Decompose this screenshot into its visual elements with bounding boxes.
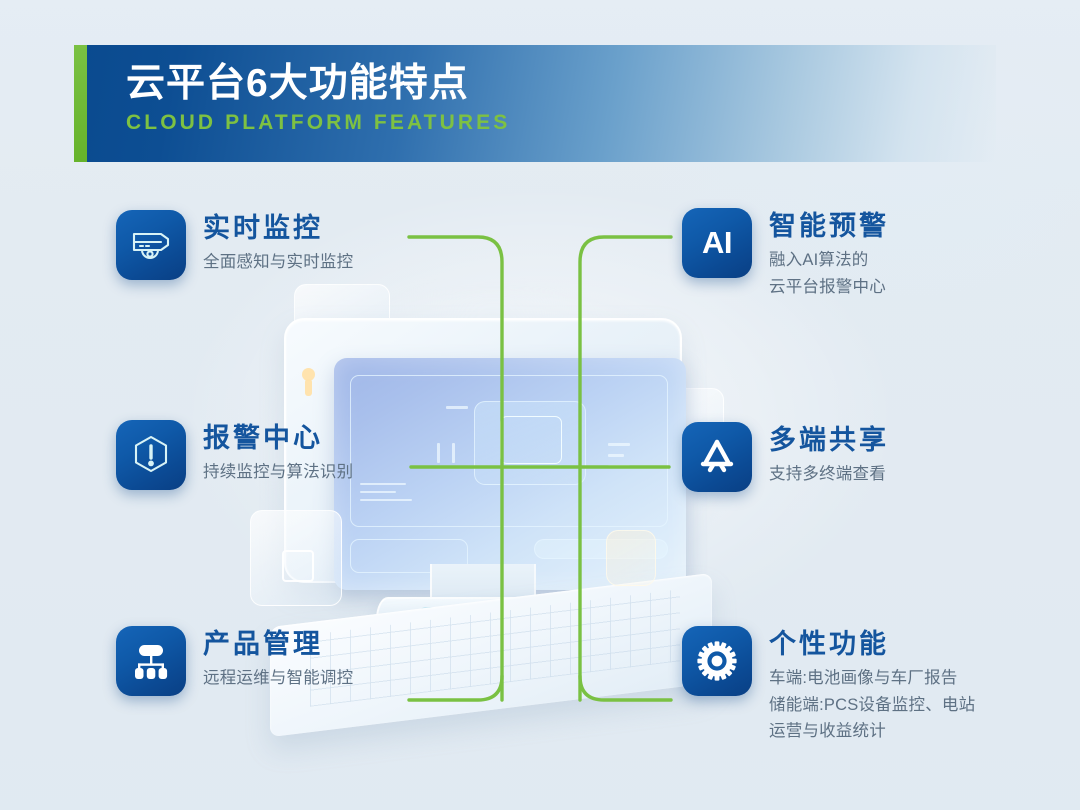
feature-item-product-management[interactable]: 产品管理 远程运维与智能调控	[116, 626, 353, 696]
feature-desc-line: 云平台报警中心	[769, 274, 889, 301]
feature-title: 实时监控	[203, 213, 353, 245]
floating-card-square-mark	[282, 550, 314, 582]
screen-detail-line	[446, 406, 468, 409]
feature-text-group: 报警中心 持续监控与算法识别	[203, 420, 353, 486]
feature-item-alarm-center[interactable]: 报警中心 持续监控与算法识别	[116, 420, 353, 490]
header-text-group: 云平台6大功能特点 CLOUD PLATFORM FEATURES	[126, 60, 510, 135]
page-header-banner: 云平台6大功能特点 CLOUD PLATFORM FEATURES	[74, 45, 996, 162]
screen-panel-inner	[500, 416, 562, 464]
lock-shackle	[305, 379, 312, 396]
screen-detail-line	[437, 443, 440, 463]
feature-desc-line: 储能端:PCS设备监控、电站	[769, 692, 975, 719]
feature-desc-line: 持续监控与算法识别	[203, 459, 353, 486]
floating-card-amber	[606, 530, 656, 586]
feature-item-intelligent-warning[interactable]: AI 智能预警 融入AI算法的 云平台报警中心	[682, 208, 889, 300]
feature-title: 个性功能	[769, 629, 975, 661]
feature-text-group: 智能预警 融入AI算法的 云平台报警中心	[769, 208, 889, 300]
cctv-camera-icon	[116, 210, 186, 280]
feature-desc-line: 全面感知与实时监控	[203, 249, 353, 276]
screen-detail-line	[360, 483, 406, 485]
feature-title: 报警中心	[203, 423, 353, 455]
hierarchy-icon	[116, 626, 186, 696]
feature-desc-line: 融入AI算法的	[769, 247, 889, 274]
feature-text-group: 个性功能 车端:电池画像与车厂报告 储能端:PCS设备监控、电站 运营与收益统计	[769, 626, 975, 745]
ai-text-icon: AI	[682, 208, 752, 278]
gear-icon	[682, 626, 752, 696]
feature-title: 多端共享	[769, 425, 889, 457]
feature-text-group: 产品管理 远程运维与智能调控	[203, 626, 353, 692]
feature-text-group: 多端共享 支持多终端查看	[769, 422, 889, 488]
feature-desc-line: 车端:电池画像与车厂报告	[769, 665, 975, 692]
feature-text-group: 实时监控 全面感知与实时监控	[203, 210, 353, 276]
ai-icon-label: AI	[702, 227, 732, 260]
feature-title: 智能预警	[769, 211, 889, 243]
screen-detail-line	[360, 499, 412, 501]
screen-detail-line	[608, 443, 630, 446]
screen-detail-line	[608, 465, 630, 468]
screen-detail-line	[608, 454, 624, 457]
feature-item-realtime-monitoring[interactable]: 实时监控 全面感知与实时监控	[116, 210, 353, 280]
feature-title: 产品管理	[203, 629, 353, 661]
app-store-icon	[682, 422, 752, 492]
page-title: 云平台6大功能特点	[126, 60, 510, 108]
page-subtitle: CLOUD PLATFORM FEATURES	[126, 111, 510, 135]
hexagon-alert-icon	[116, 420, 186, 490]
header-green-accent-bar	[74, 45, 87, 162]
screen-detail-line	[452, 443, 455, 463]
feature-item-multi-terminal-sharing[interactable]: 多端共享 支持多终端查看	[682, 422, 889, 492]
feature-item-personalized-features[interactable]: 个性功能 车端:电池画像与车厂报告 储能端:PCS设备监控、电站 运营与收益统计	[682, 626, 975, 745]
feature-desc-line: 支持多终端查看	[769, 461, 889, 488]
screen-detail-line	[360, 491, 396, 493]
feature-desc-line: 远程运维与智能调控	[203, 665, 353, 692]
lock-icon	[298, 368, 318, 402]
feature-desc-line: 运营与收益统计	[769, 718, 975, 745]
